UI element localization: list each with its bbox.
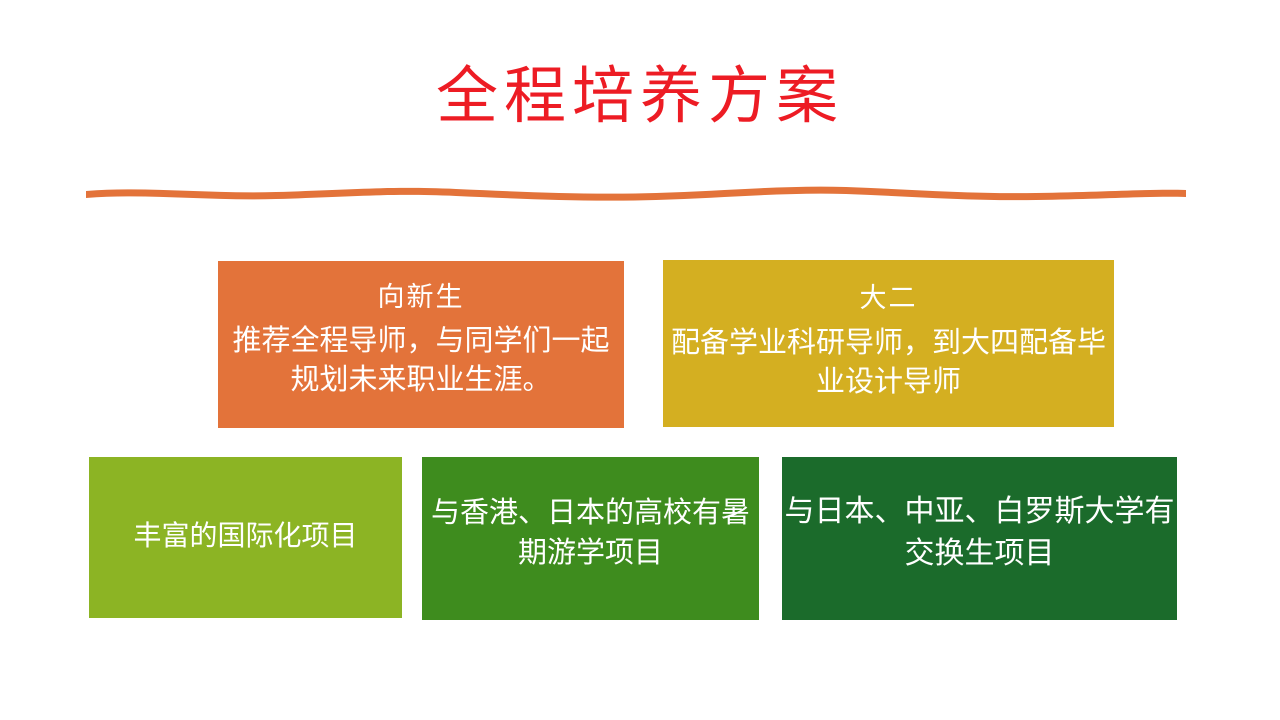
card-freshman-heading: 向新生 [378,278,465,316]
slide-canvas: 全程培养方案 向新生 推荐全程导师，与同学们一起规划未来职业生涯。 大二 配备学… [0,0,1280,720]
card-exchange-program-body: 与日本、中亚、白罗斯大学有交换生项目 [782,491,1177,575]
card-freshman[interactable]: 向新生 推荐全程导师，与同学们一起规划未来职业生涯。 [218,261,624,428]
card-sophomore-body: 配备学业科研导师，到大四配备毕业设计导师 [663,317,1114,402]
page-title: 全程培养方案 [0,58,1280,136]
card-sophomore-heading: 大二 [860,279,918,317]
wavy-orange-rule-icon [86,178,1186,204]
wavy-divider [86,178,1186,204]
card-international[interactable]: 丰富的国际化项目 [89,457,402,618]
card-freshman-body: 推荐全程导师，与同学们一起规划未来职业生涯。 [218,316,624,400]
card-exchange-program[interactable]: 与日本、中亚、白罗斯大学有交换生项目 [782,457,1177,620]
card-summer-program[interactable]: 与香港、日本的高校有暑期游学项目 [422,457,759,620]
card-sophomore[interactable]: 大二 配备学业科研导师，到大四配备毕业设计导师 [663,260,1114,427]
card-international-body: 丰富的国际化项目 [133,517,357,555]
card-summer-program-body: 与香港、日本的高校有暑期游学项目 [422,493,759,573]
